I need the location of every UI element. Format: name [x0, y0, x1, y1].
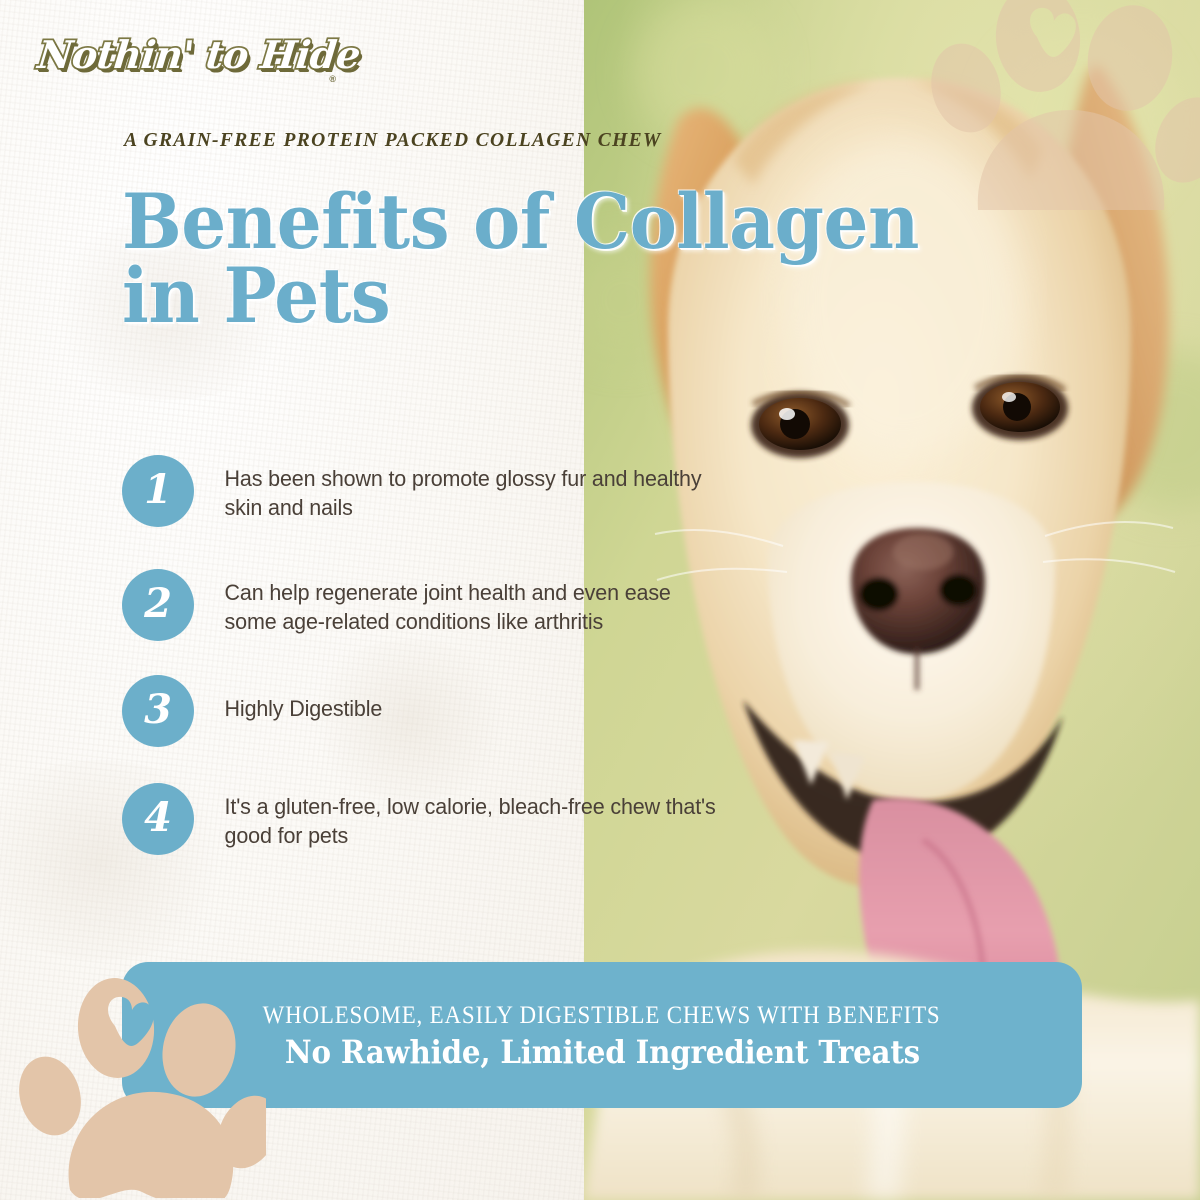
- banner-line-1: Wholesome, Easily Digestible Chews With …: [263, 1000, 941, 1030]
- banner-line-2: No Rawhide, Limited Ingredient Treats: [284, 1034, 919, 1071]
- list-item: 4 It's a gluten-free, low calorie, bleac…: [122, 783, 742, 855]
- tagline: A Grain-Free Protein Packed Collagen Che…: [124, 130, 662, 152]
- list-item: 2 Can help regenerate joint health and e…: [122, 569, 742, 641]
- list-item: 1 Has been shown to promote glossy fur a…: [122, 455, 742, 527]
- page-title-line-1: Benefits of Collagen: [122, 185, 959, 259]
- benefit-number-badge: 1: [122, 455, 194, 527]
- page-title: Benefits of Collagen in Pets: [122, 185, 959, 334]
- brand-logo-text: Nothin' to Hide: [35, 26, 331, 84]
- benefit-number-badge: 2: [122, 569, 194, 641]
- benefit-text: It's a gluten-free, low calorie, bleach-…: [194, 783, 717, 851]
- benefits-list: 1 Has been shown to promote glossy fur a…: [122, 455, 742, 873]
- brand-logo[interactable]: Nothin' to Hide ®: [38, 26, 328, 88]
- bottom-banner: Wholesome, Easily Digestible Chews With …: [122, 962, 1082, 1108]
- benefit-number-badge: 4: [122, 783, 194, 855]
- page-title-line-2: in Pets: [122, 259, 959, 333]
- infographic-poster: Wholesome, Easily Digestible Chews With …: [0, 0, 1200, 1200]
- benefit-text: Highly Digestible: [194, 675, 717, 723]
- benefit-text: Can help regenerate joint health and eve…: [194, 569, 717, 637]
- benefit-text: Has been shown to promote glossy fur and…: [194, 455, 717, 523]
- list-item: 3 Highly Digestible: [122, 675, 742, 747]
- benefit-number-badge: 3: [122, 675, 194, 747]
- registered-trademark-icon: ®: [329, 74, 336, 84]
